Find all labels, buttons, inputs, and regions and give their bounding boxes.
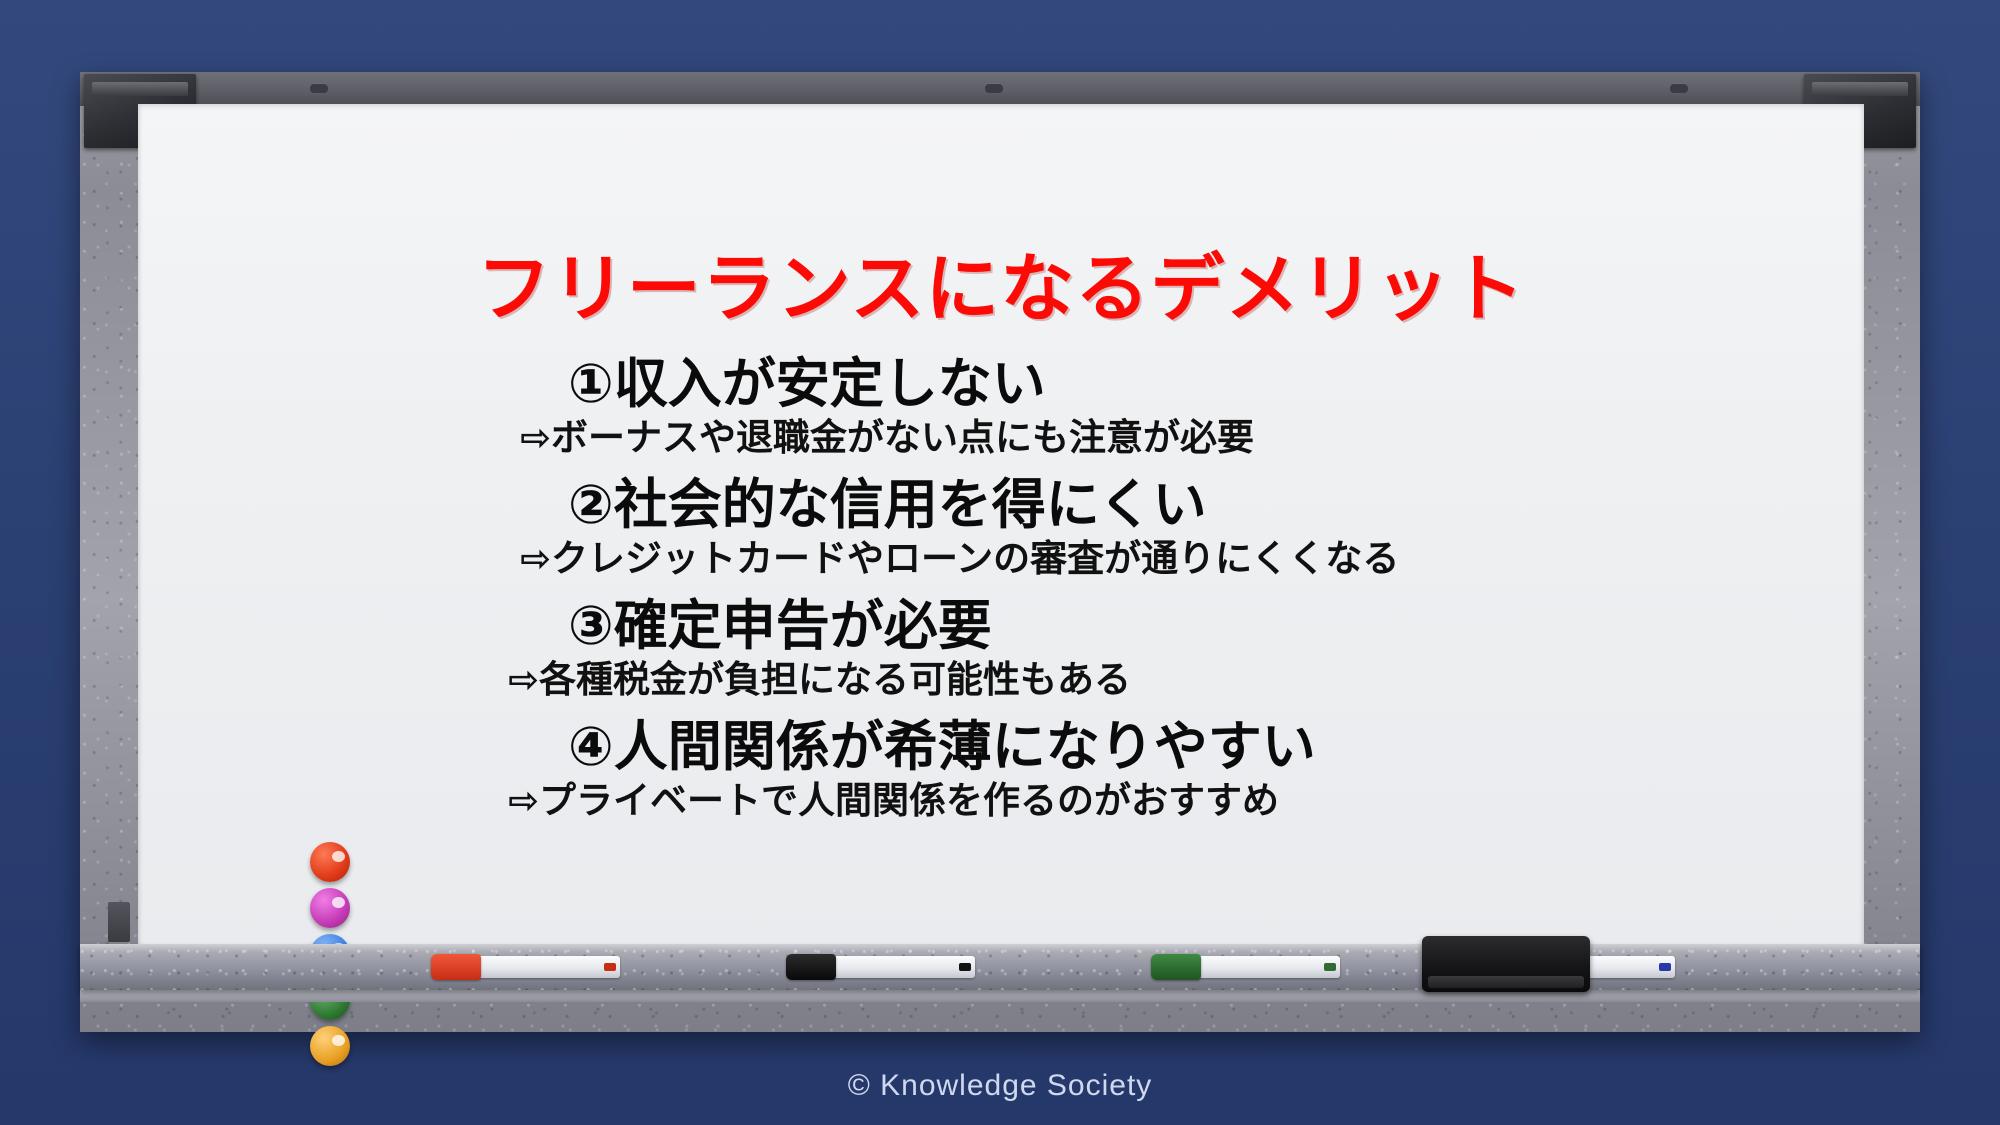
item-detail: ⇨各種税金が負担になる可能性もある xyxy=(508,658,1968,702)
magnet-orange[interactable] xyxy=(310,1026,350,1066)
marker-cap xyxy=(1151,954,1201,980)
slide-root: フリーランスになるデメリット ①収入が安定しない ⇨ボーナスや退職金がない点にも… xyxy=(0,0,2000,1125)
marker-tip xyxy=(1324,963,1336,971)
marker-cap xyxy=(431,954,481,980)
rail-screw-hole xyxy=(985,83,1003,93)
marker-barrel xyxy=(475,956,620,978)
item-heading: ④人間関係が希薄になりやすい xyxy=(568,717,1968,777)
magnet-red[interactable] xyxy=(310,842,350,882)
item-detail: ⇨ボーナスや退職金がない点にも注意が必要 xyxy=(520,416,1968,460)
marker-tip xyxy=(1659,963,1671,971)
item-detail: ⇨クレジットカードやローンの審査が通りにくくなる xyxy=(520,537,1968,581)
marker-red[interactable] xyxy=(475,956,620,978)
marker-tray xyxy=(80,944,1920,990)
list-item: ②社会的な信用を得にくい ⇨クレジットカードやローンの審査が通りにくくなる xyxy=(568,475,1968,582)
page-title: フリーランスになるデメリット xyxy=(138,229,1864,336)
marker-barrel xyxy=(1195,956,1340,978)
marker-barrel xyxy=(830,956,975,978)
list-item: ④人間関係が希薄になりやすい ⇨プライベートで人間関係を作るのがおすすめ xyxy=(568,717,1968,824)
item-detail: ⇨プライベートで人間関係を作るのがおすすめ xyxy=(508,779,1968,823)
whiteboard-top-rail xyxy=(80,72,1920,106)
marker-cap xyxy=(786,954,836,980)
list-item: ③確定申告が必要 ⇨各種税金が負担になる可能性もある xyxy=(568,596,1968,703)
rail-screw-hole xyxy=(310,83,328,93)
item-heading: ①収入が安定しない xyxy=(568,354,1968,414)
magnet-magenta[interactable] xyxy=(310,888,350,928)
list-item: ①収入が安定しない ⇨ボーナスや退職金がない点にも注意が必要 xyxy=(568,354,1968,461)
whiteboard-frame: フリーランスになるデメリット ①収入が安定しない ⇨ボーナスや退職金がない点にも… xyxy=(80,72,1920,1032)
footer-credit: © Knowledge Society xyxy=(0,1069,2000,1103)
tray-end-stop xyxy=(108,902,130,942)
marker-tip xyxy=(604,963,616,971)
marker-tray-lip xyxy=(80,990,1920,1002)
item-heading: ②社会的な信用を得にくい xyxy=(568,475,1968,535)
whiteboard-eraser[interactable] xyxy=(1422,936,1590,992)
marker-tip xyxy=(959,963,971,971)
rail-screw-hole xyxy=(1670,83,1688,93)
whiteboard-surface: フリーランスになるデメリット ①収入が安定しない ⇨ボーナスや退職金がない点にも… xyxy=(138,104,1864,954)
item-heading: ③確定申告が必要 xyxy=(568,596,1968,656)
content-list: ①収入が安定しない ⇨ボーナスや退職金がない点にも注意が必要 ②社会的な信用を得… xyxy=(568,354,1968,837)
marker-green[interactable] xyxy=(1195,956,1340,978)
marker-black[interactable] xyxy=(830,956,975,978)
